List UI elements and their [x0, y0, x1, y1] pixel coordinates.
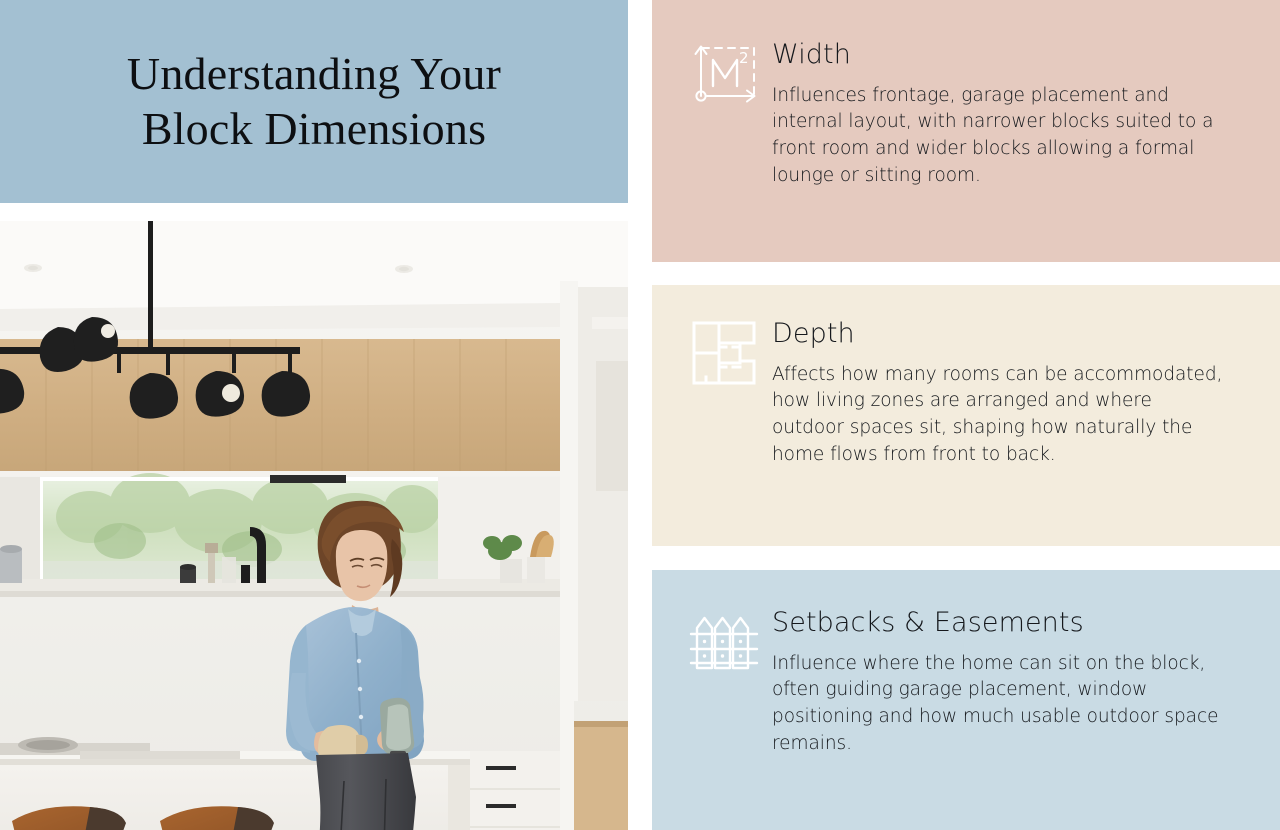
card-setbacks-body: Setbacks & Easements Influence where the… [772, 570, 1280, 757]
card-depth: Depth Affects how many rooms can be acco… [652, 285, 1280, 546]
card-depth-title: Depth [772, 319, 1244, 349]
title-panel: Understanding Your Block Dimensions [0, 0, 628, 203]
fence-icon [688, 606, 760, 678]
card-depth-text: Affects how many rooms can be accommodat… [772, 362, 1227, 469]
card-width-text: Influences frontage, garage placement an… [772, 83, 1227, 190]
card-width-body: Width Influences frontage, garage placem… [772, 0, 1280, 189]
kitchen-photo [0, 221, 628, 830]
infographic-page: Understanding Your Block Dimensions [0, 0, 1280, 830]
area-square-metre-icon: 2 [688, 38, 760, 110]
page-title-line-1: Understanding Your [127, 47, 501, 101]
card-width-icon-wrap: 2 [652, 0, 772, 110]
card-depth-icon-wrap [652, 285, 772, 389]
svg-text:2: 2 [739, 49, 749, 67]
card-setbacks-text: Influence where the home can sit on the … [772, 651, 1227, 758]
card-width: 2 Width Influences frontage, garage plac… [652, 0, 1280, 262]
cards-column: 2 Width Influences frontage, garage plac… [652, 0, 1280, 830]
card-width-title: Width [772, 40, 1244, 70]
card-setbacks-easements: Setbacks & Easements Influence where the… [652, 570, 1280, 830]
card-setbacks-title: Setbacks & Easements [772, 608, 1244, 638]
floor-plan-icon [688, 317, 760, 389]
card-depth-body: Depth Affects how many rooms can be acco… [772, 285, 1280, 468]
left-column: Understanding Your Block Dimensions [0, 0, 628, 830]
page-title-line-2: Block Dimensions [127, 102, 501, 156]
page-title: Understanding Your Block Dimensions [127, 47, 501, 156]
card-setbacks-icon-wrap [652, 570, 772, 678]
